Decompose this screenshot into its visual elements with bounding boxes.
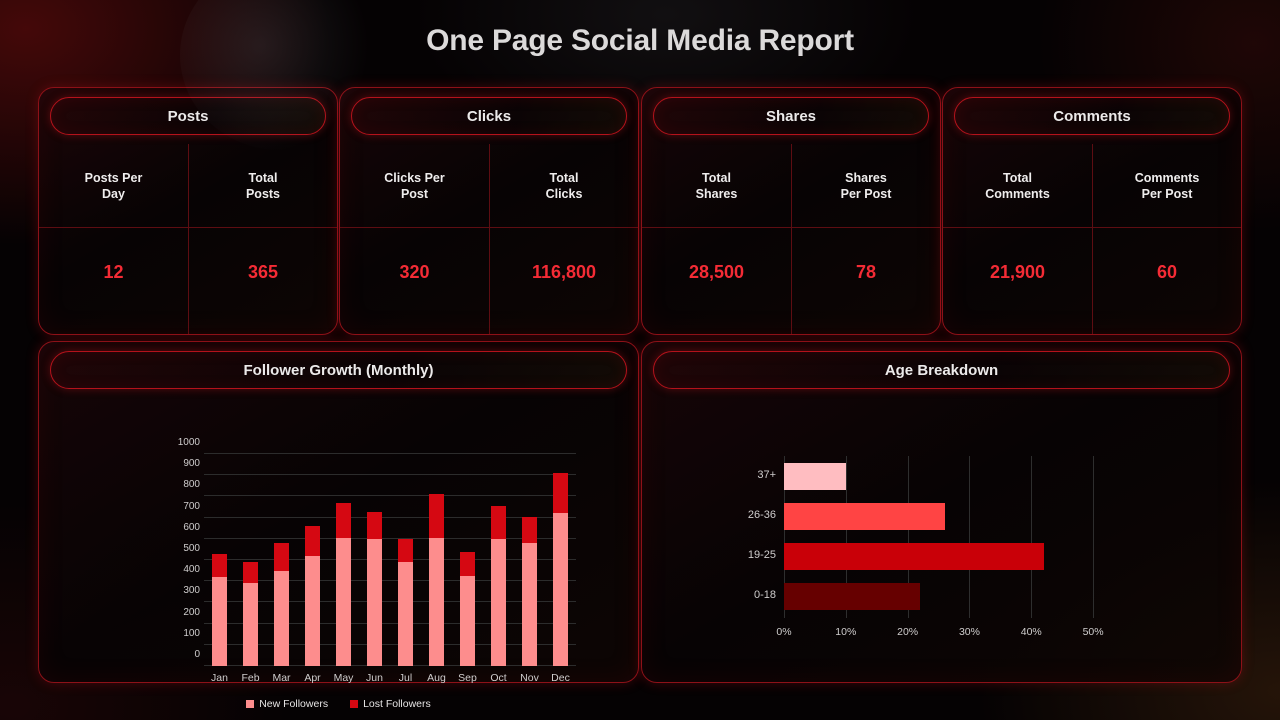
bar-segment-new-followers bbox=[522, 543, 537, 666]
page-title: One Page Social Media Report bbox=[0, 24, 1280, 58]
kpi-card-comments: Comments Total Comments 21,900 Comments … bbox=[942, 87, 1242, 335]
bar-segment-new-followers bbox=[212, 577, 227, 666]
follower-growth-plot: 01002003004005006007008009001000JanFebMa… bbox=[204, 454, 576, 666]
kpi-metric-label: Total Clicks bbox=[490, 144, 638, 228]
chart-panel-age-breakdown: Age Breakdown 0%10%20%30%40%50%37+26-361… bbox=[641, 341, 1242, 683]
bar-stack bbox=[305, 526, 320, 666]
y-axis-tick: 500 bbox=[140, 543, 200, 554]
bar-segment-new-followers bbox=[429, 538, 444, 666]
kpi-metric-value: 21,900 bbox=[943, 228, 1092, 334]
chart-panel-header: Follower Growth (Monthly) bbox=[50, 351, 627, 389]
kpi-metric-value: 12 bbox=[39, 228, 188, 334]
kpi-metric-value: 365 bbox=[189, 228, 337, 334]
legend-item: New Followers bbox=[246, 698, 328, 710]
bar-segment-lost-followers bbox=[336, 503, 351, 538]
gridline bbox=[204, 495, 576, 496]
bar-segment-lost-followers bbox=[553, 473, 568, 513]
bar-stack bbox=[398, 539, 413, 666]
gridline bbox=[204, 474, 576, 475]
kpi-metric: Total Clicks 116,800 bbox=[489, 144, 638, 334]
age-breakdown-chart: 0%10%20%30%40%50%37+26-3619-250-18 bbox=[642, 398, 1241, 682]
bar-segment-lost-followers bbox=[522, 517, 537, 544]
y-axis-tick: 37+ bbox=[706, 469, 776, 481]
kpi-metric: Posts Per Day 12 bbox=[39, 144, 188, 334]
bar-segment-new-followers bbox=[274, 571, 289, 666]
bar-segment-lost-followers bbox=[429, 494, 444, 537]
y-axis-tick: 100 bbox=[140, 628, 200, 639]
kpi-metric-value: 320 bbox=[340, 228, 489, 334]
bar-stack bbox=[274, 543, 289, 666]
legend-swatch-lost-followers bbox=[350, 700, 358, 708]
kpi-card-header: Posts bbox=[50, 97, 326, 135]
y-axis-tick: 19-25 bbox=[706, 549, 776, 561]
legend-swatch-new-followers bbox=[246, 700, 254, 708]
bar-segment-new-followers bbox=[491, 539, 506, 666]
kpi-metric: Shares Per Post 78 bbox=[791, 144, 940, 334]
legend-item: Lost Followers bbox=[350, 698, 431, 710]
gridline bbox=[969, 456, 970, 618]
kpi-metric-label: Total Shares bbox=[642, 144, 791, 228]
x-axis-tick: Dec bbox=[539, 672, 583, 684]
gridline bbox=[1031, 456, 1032, 618]
bar-segment-lost-followers bbox=[460, 552, 475, 576]
gridline bbox=[204, 665, 576, 666]
kpi-card-clicks: Clicks Clicks Per Post 320 Total Clicks … bbox=[339, 87, 639, 335]
kpi-card-header: Shares bbox=[653, 97, 929, 135]
bar-segment-lost-followers bbox=[212, 554, 227, 577]
bar-segment-new-followers bbox=[553, 513, 568, 666]
kpi-metric-label: Total Posts bbox=[189, 144, 337, 228]
y-axis-tick: 200 bbox=[140, 607, 200, 618]
gridline bbox=[204, 559, 576, 560]
y-axis-tick: 900 bbox=[140, 458, 200, 469]
bar-segment-lost-followers bbox=[243, 562, 258, 583]
kpi-metric-label: Shares Per Post bbox=[792, 144, 940, 228]
bar-segment-lost-followers bbox=[305, 526, 320, 556]
gridline bbox=[204, 538, 576, 539]
chart-panel-header: Age Breakdown bbox=[653, 351, 1230, 389]
y-axis-tick: 400 bbox=[140, 564, 200, 575]
kpi-metric: Total Comments 21,900 bbox=[943, 144, 1092, 334]
y-axis-tick: 26-36 bbox=[706, 509, 776, 521]
chart-panel-follower-growth: Follower Growth (Monthly) 01002003004005… bbox=[38, 341, 639, 683]
bar-segment-new-followers bbox=[367, 539, 382, 666]
age-breakdown-plot: 0%10%20%30%40%50%37+26-3619-250-18 bbox=[784, 456, 1124, 616]
x-axis-tick: 20% bbox=[883, 626, 933, 638]
y-axis-tick: 700 bbox=[140, 501, 200, 512]
bar-segment-new-followers bbox=[460, 576, 475, 666]
bar-segment-lost-followers bbox=[367, 512, 382, 539]
bar-segment-new-followers bbox=[398, 562, 413, 666]
bar-stack bbox=[429, 494, 444, 666]
gridline bbox=[204, 453, 576, 454]
kpi-metric-label: Comments Per Post bbox=[1093, 144, 1241, 228]
gridline bbox=[204, 517, 576, 518]
bar-stack bbox=[212, 554, 227, 666]
bar-segment-lost-followers bbox=[274, 543, 289, 571]
kpi-metric-value: 116,800 bbox=[490, 228, 638, 334]
gridline bbox=[1093, 456, 1094, 618]
x-axis-tick: 0% bbox=[759, 626, 809, 638]
follower-growth-chart: 01002003004005006007008009001000JanFebMa… bbox=[39, 398, 638, 682]
bar-stack bbox=[336, 503, 351, 666]
kpi-metric: Comments Per Post 60 bbox=[1092, 144, 1241, 334]
age-bar bbox=[784, 463, 846, 490]
bar-segment-new-followers bbox=[336, 538, 351, 666]
kpi-metric-label: Clicks Per Post bbox=[340, 144, 489, 228]
bar-stack bbox=[522, 517, 537, 666]
bar-segment-lost-followers bbox=[491, 506, 506, 539]
legend-label: Lost Followers bbox=[363, 698, 431, 710]
bar-stack bbox=[553, 473, 568, 666]
y-axis-tick: 300 bbox=[140, 585, 200, 596]
gridline bbox=[204, 580, 576, 581]
y-axis-tick: 1000 bbox=[140, 437, 200, 448]
bar-stack bbox=[491, 506, 506, 666]
bar-segment-new-followers bbox=[243, 583, 258, 666]
bar-segment-new-followers bbox=[305, 556, 320, 666]
y-axis-tick: 0 bbox=[140, 649, 200, 660]
age-bar bbox=[784, 583, 920, 610]
x-axis-tick: 30% bbox=[944, 626, 994, 638]
age-bar bbox=[784, 543, 1044, 570]
bar-stack bbox=[367, 512, 382, 666]
age-bar bbox=[784, 503, 945, 530]
kpi-card-header: Clicks bbox=[351, 97, 627, 135]
gridline bbox=[204, 644, 576, 645]
x-axis-tick: 50% bbox=[1068, 626, 1118, 638]
gridline bbox=[204, 623, 576, 624]
kpi-card-header: Comments bbox=[954, 97, 1230, 135]
kpi-metric-label: Posts Per Day bbox=[39, 144, 188, 228]
report-canvas: One Page Social Media Report Posts Posts… bbox=[0, 0, 1280, 720]
gridline bbox=[204, 601, 576, 602]
chart-legend: New Followers Lost Followers bbox=[39, 698, 638, 710]
kpi-metric-value: 78 bbox=[792, 228, 940, 334]
kpi-metric: Total Posts 365 bbox=[188, 144, 337, 334]
bar-stack bbox=[243, 562, 258, 666]
legend-label: New Followers bbox=[259, 698, 328, 710]
kpi-metric-value: 60 bbox=[1093, 228, 1241, 334]
kpi-metric-label: Total Comments bbox=[943, 144, 1092, 228]
y-axis-tick: 800 bbox=[140, 479, 200, 490]
kpi-metric-value: 28,500 bbox=[642, 228, 791, 334]
y-axis-tick: 0-18 bbox=[706, 589, 776, 601]
kpi-card-shares: Shares Total Shares 28,500 Shares Per Po… bbox=[641, 87, 941, 335]
y-axis-tick: 600 bbox=[140, 522, 200, 533]
bar-stack bbox=[460, 552, 475, 666]
kpi-card-posts: Posts Posts Per Day 12 Total Posts 365 bbox=[38, 87, 338, 335]
bar-segment-lost-followers bbox=[398, 539, 413, 562]
x-axis-tick: 40% bbox=[1006, 626, 1056, 638]
kpi-metric: Total Shares 28,500 bbox=[642, 144, 791, 334]
kpi-metric: Clicks Per Post 320 bbox=[340, 144, 489, 334]
x-axis-tick: 10% bbox=[821, 626, 871, 638]
